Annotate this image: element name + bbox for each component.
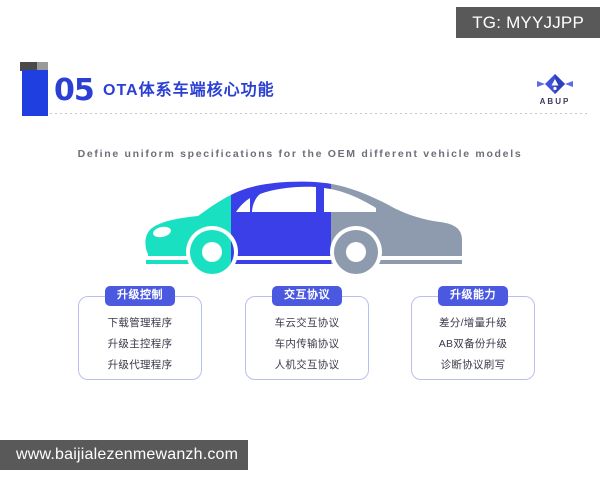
slide-header: 05 OTA体系车端核心功能: [0, 60, 600, 118]
feature-card-list: 下载管理程序 升级主控程序 升级代理程序: [79, 313, 201, 376]
feature-card-title: 升级控制: [105, 286, 175, 306]
side-view-car-illustration: [140, 176, 470, 280]
page-title: OTA体系车端核心功能: [103, 81, 275, 101]
feature-card-title: 升级能力: [438, 286, 508, 306]
feature-card-list: 差分/增量升级 AB双备份升级 诊断协议刷写: [412, 313, 534, 376]
list-item: AB双备份升级: [412, 334, 534, 355]
abup-logo: ABUP: [534, 72, 576, 114]
section-number: 05: [54, 74, 94, 108]
list-item: 车内传输协议: [246, 334, 368, 355]
list-item: 人机交互协议: [246, 355, 368, 376]
watermark-bottom-left: www.baijialezenmewanzh.com: [0, 440, 248, 470]
list-item: 升级主控程序: [79, 334, 201, 355]
feature-card-list: 车云交互协议 车内传输协议 人机交互协议: [246, 313, 368, 376]
slide-canvas: TG: MYYJJPP 05 OTA体系车端核心功能 ABUP Define u…: [0, 0, 600, 480]
logo-wordmark: ABUP: [534, 97, 576, 107]
feature-card[interactable]: 升级能力 差分/增量升级 AB双备份升级 诊断协议刷写: [411, 296, 535, 380]
feature-card[interactable]: 交互协议 车云交互协议 车内传输协议 人机交互协议: [245, 296, 369, 380]
watermark-top-right: TG: MYYJJPP: [456, 7, 600, 38]
header-dotted-rule: [50, 113, 590, 114]
list-item: 车云交互协议: [246, 313, 368, 334]
list-item: 下载管理程序: [79, 313, 201, 334]
feature-card-title: 交互协议: [272, 286, 342, 306]
subtitle-text: Define uniform specifications for the OE…: [0, 148, 600, 160]
header-accent-bar: [22, 70, 48, 116]
list-item: 差分/增量升级: [412, 313, 534, 334]
feature-card[interactable]: 升级控制 下载管理程序 升级主控程序 升级代理程序: [78, 296, 202, 380]
list-item: 诊断协议刷写: [412, 355, 534, 376]
abup-diamond-logo-icon: [534, 72, 576, 98]
list-item: 升级代理程序: [79, 355, 201, 376]
